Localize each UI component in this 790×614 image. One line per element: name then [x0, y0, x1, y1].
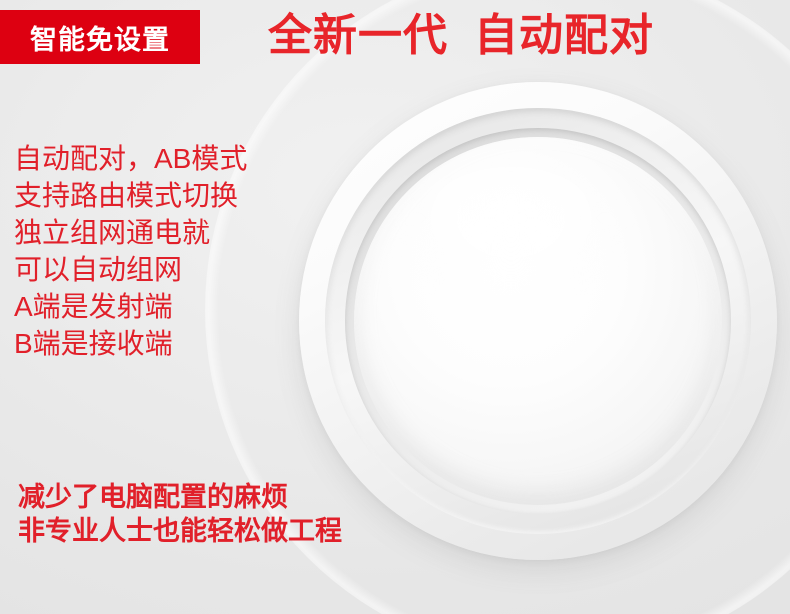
feature-badge-label: 智能免设置 [30, 18, 170, 57]
tagline-block: 减少了电脑配置的麻烦 非专业人士也能轻松做工程 [18, 480, 438, 548]
headline-part-1: 全新一代 [268, 11, 448, 60]
feature-list-item: 自动配对，AB模式 [14, 140, 304, 177]
page-title: 全新一代自动配对 [268, 8, 654, 64]
feature-list-item: 支持路由模式切换 [14, 177, 304, 214]
feature-list-item: 独立组网通电就 [14, 214, 304, 251]
headline-part-2: 自动配对 [474, 11, 654, 60]
feature-badge: 智能免设置 [0, 10, 200, 64]
tagline-line: 减少了电脑配置的麻烦 [18, 480, 438, 514]
feature-list-item: B端是接收端 [14, 325, 304, 362]
tagline-line: 非专业人士也能轻松做工程 [18, 514, 438, 548]
feature-list-item: A端是发射端 [14, 288, 304, 325]
product-poster: 智能免设置 全新一代自动配对 自动配对，AB模式 支持路由模式切换 独立组网通电… [0, 0, 790, 614]
feature-list-item: 可以自动组网 [14, 251, 304, 288]
feature-list: 自动配对，AB模式 支持路由模式切换 独立组网通电就 可以自动组网 A端是发射端… [14, 140, 304, 362]
